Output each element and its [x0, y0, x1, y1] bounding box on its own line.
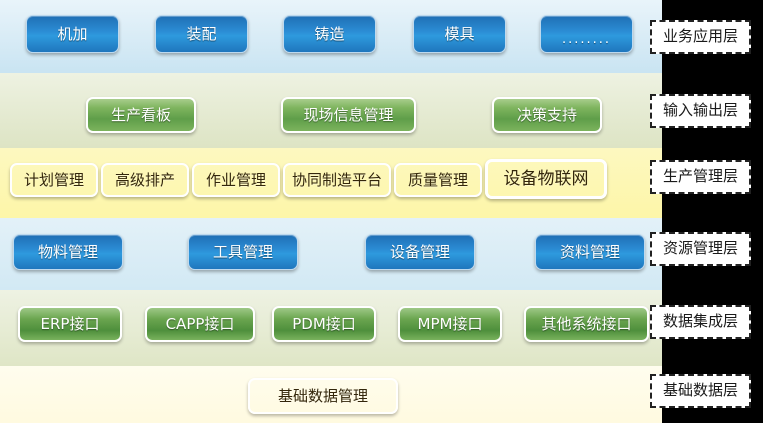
architecture-diagram: 机加装配铸造模具........生产看板现场信息管理决策支持计划管理高级排产作业…	[0, 0, 763, 423]
node-label: 机加	[57, 27, 87, 42]
node-label: MPM接口	[418, 317, 483, 332]
node-label: 质量管理	[408, 173, 468, 188]
node-business-application-0[interactable]: 机加	[26, 15, 119, 53]
node-production-management-5[interactable]: 设备物联网	[485, 159, 607, 199]
node-label: 设备物联网	[504, 171, 589, 188]
node-label: 协同制造平台	[292, 173, 382, 188]
layer-band-inner: ERP接口CAPP接口PDM接口MPM接口其他系统接口	[0, 290, 662, 366]
layer-band-inner: 机加装配铸造模具........	[0, 0, 662, 73]
layer-label-business-application: 业务应用层	[650, 20, 751, 54]
layer-band-base-data: 基础数据管理	[0, 366, 662, 423]
node-label: 基础数据管理	[278, 389, 368, 404]
node-data-integration-3[interactable]: MPM接口	[398, 306, 502, 342]
node-production-management-3[interactable]: 协同制造平台	[283, 163, 391, 197]
node-label: 作业管理	[206, 173, 266, 188]
node-label: 资料管理	[560, 245, 620, 260]
node-label: 设备管理	[390, 245, 450, 260]
node-business-application-4[interactable]: ........	[540, 15, 633, 53]
layer-band-business-application: 机加装配铸造模具........	[0, 0, 662, 73]
layer-label-production-management: 生产管理层	[650, 160, 751, 194]
node-business-application-1[interactable]: 装配	[155, 15, 248, 53]
node-label: 计划管理	[24, 173, 84, 188]
node-business-application-3[interactable]: 模具	[413, 15, 506, 53]
node-data-integration-4[interactable]: 其他系统接口	[524, 306, 649, 342]
layer-band-inner: 物料管理工具管理设备管理资料管理	[0, 218, 662, 290]
layer-label-data-integration: 数据集成层	[650, 305, 751, 339]
node-resource-management-2[interactable]: 设备管理	[365, 234, 475, 270]
node-label: 现场信息管理	[303, 108, 393, 123]
layer-label-gutter	[662, 0, 763, 423]
layer-label-input-output: 输入输出层	[650, 94, 751, 128]
node-data-integration-1[interactable]: CAPP接口	[145, 306, 255, 342]
node-label: 生产看板	[111, 108, 171, 123]
layer-label-resource-management: 资源管理层	[650, 232, 751, 266]
node-label: PDM接口	[292, 317, 356, 332]
node-label: 铸造	[314, 27, 344, 42]
node-label: 模具	[444, 27, 474, 42]
node-resource-management-0[interactable]: 物料管理	[13, 234, 123, 270]
node-input-output-1[interactable]: 现场信息管理	[281, 97, 416, 133]
node-label: 装配	[186, 27, 216, 42]
node-label: 工具管理	[213, 245, 273, 260]
node-label: 决策支持	[517, 108, 577, 123]
node-label: ........	[562, 33, 611, 46]
layer-band-inner: 基础数据管理	[0, 366, 662, 423]
layer-band-inner: 生产看板现场信息管理决策支持	[0, 73, 662, 148]
layer-band-resource-management: 物料管理工具管理设备管理资料管理	[0, 218, 662, 290]
node-production-management-1[interactable]: 高级排产	[101, 163, 189, 197]
node-input-output-2[interactable]: 决策支持	[492, 97, 602, 133]
layer-band-inner: 计划管理高级排产作业管理协同制造平台质量管理设备物联网	[0, 148, 662, 218]
layer-band-production-management: 计划管理高级排产作业管理协同制造平台质量管理设备物联网	[0, 148, 662, 218]
node-input-output-0[interactable]: 生产看板	[86, 97, 196, 133]
node-label: 物料管理	[38, 245, 98, 260]
node-label: 其他系统接口	[541, 317, 631, 332]
layer-band-data-integration: ERP接口CAPP接口PDM接口MPM接口其他系统接口	[0, 290, 662, 366]
node-production-management-4[interactable]: 质量管理	[394, 163, 482, 197]
layer-label-base-data: 基础数据层	[650, 374, 751, 408]
node-data-integration-0[interactable]: ERP接口	[18, 306, 122, 342]
node-resource-management-3[interactable]: 资料管理	[535, 234, 645, 270]
node-resource-management-1[interactable]: 工具管理	[188, 234, 298, 270]
node-production-management-2[interactable]: 作业管理	[192, 163, 280, 197]
node-label: 高级排产	[115, 173, 175, 188]
node-production-management-0[interactable]: 计划管理	[10, 163, 98, 197]
layer-band-input-output: 生产看板现场信息管理决策支持	[0, 73, 662, 148]
node-data-integration-2[interactable]: PDM接口	[272, 306, 376, 342]
node-label: CAPP接口	[166, 317, 235, 332]
node-label: ERP接口	[41, 317, 100, 332]
node-base-data-0[interactable]: 基础数据管理	[248, 378, 398, 414]
node-business-application-2[interactable]: 铸造	[283, 15, 376, 53]
